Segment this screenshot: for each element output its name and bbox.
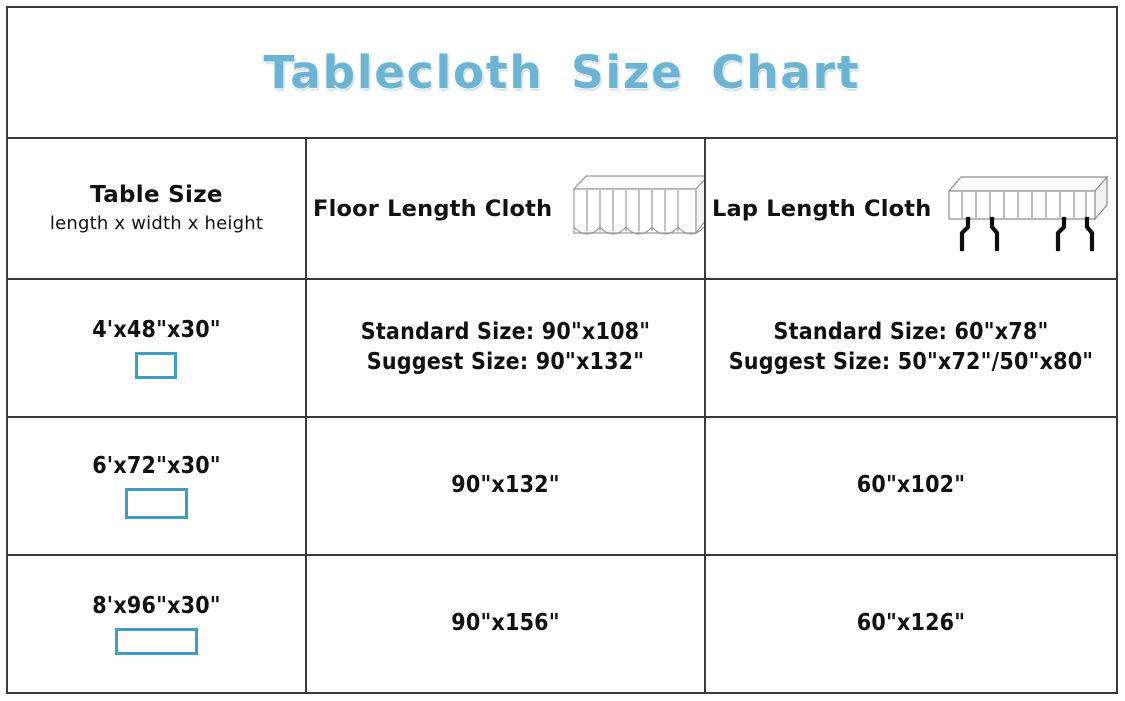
floor-length-tablecloth-icon <box>556 165 706 253</box>
table-footprint-shape <box>115 628 198 655</box>
cell-table-size: 8'x96"x30" <box>8 556 307 692</box>
floor-suggest-size: Suggest Size: 90"x132" <box>361 348 651 378</box>
header-table-size-title: Table Size <box>90 181 223 210</box>
cell-floor-length-size: Standard Size: 90"x108" Suggest Size: 90… <box>307 280 706 416</box>
lap-standard-size: 60"x126" <box>857 609 966 639</box>
table-row: 4'x48"x30" Standard Size: 90"x108" Sugge… <box>8 280 1116 418</box>
table-size-group: 6'x72"x30" <box>92 453 221 519</box>
cell-lap-length-size: 60"x126" <box>706 556 1116 692</box>
page-title: Tablecloth Size Chart <box>264 46 861 99</box>
cell-floor-length-size: 90"x132" <box>307 418 706 554</box>
lap-standard-size: 60"x102" <box>857 471 966 501</box>
table-size-value: 6'x72"x30" <box>92 453 221 479</box>
header-cell-table-size: Table Size length x width x height <box>8 139 307 278</box>
cell-table-size: 6'x72"x30" <box>8 418 307 554</box>
cell-floor-length-size: 90"x156" <box>307 556 706 692</box>
cell-table-size: 4'x48"x30" <box>8 280 307 416</box>
table-size-value: 4'x48"x30" <box>92 317 221 343</box>
cell-lap-length-size: 60"x102" <box>706 418 1116 554</box>
table-size-group: 8'x96"x30" <box>92 593 221 655</box>
chart-frame: Tablecloth Size Chart Table Size length … <box>6 6 1118 694</box>
table-size-value: 8'x96"x30" <box>92 593 221 619</box>
table-row: 6'x72"x30" 90"x132" 60"x102" <box>8 418 1116 556</box>
lap-length-size-value: Standard Size: 60"x78" Suggest Size: 50"… <box>729 318 1094 378</box>
lap-suggest-size: Suggest Size: 50"x72"/50"x80" <box>729 348 1094 378</box>
header-cell-floor-length: Floor Length Cloth <box>307 139 706 278</box>
lap-standard-size: Standard Size: 60"x78" <box>729 318 1094 348</box>
cell-lap-length-size: Standard Size: 60"x78" Suggest Size: 50"… <box>706 280 1116 416</box>
floor-standard-size: 90"x132" <box>451 471 560 501</box>
floor-length-size-value: 90"x132" <box>451 471 560 501</box>
tablecloth-size-chart-page: Tablecloth Size Chart Table Size length … <box>0 0 1125 701</box>
header-floor-length-label: Floor Length Cloth <box>313 196 552 222</box>
table-header-row: Table Size length x width x height Floor… <box>8 139 1116 280</box>
size-table: Table Size length x width x height Floor… <box>8 139 1116 692</box>
lap-length-tablecloth-icon <box>935 161 1116 256</box>
header-table-size-subtitle: length x width x height <box>50 213 263 236</box>
floor-standard-size: 90"x156" <box>451 609 560 639</box>
floor-standard-size: Standard Size: 90"x108" <box>361 318 651 348</box>
table-row: 8'x96"x30" 90"x156" 60"x126" <box>8 556 1116 692</box>
header-cell-lap-length: Lap Length Cloth <box>706 139 1116 278</box>
table-footprint-shape <box>135 352 177 379</box>
floor-length-size-value: Standard Size: 90"x108" Suggest Size: 90… <box>361 318 651 378</box>
header-lap-length-label: Lap Length Cloth <box>712 196 931 222</box>
table-size-group: 4'x48"x30" <box>92 317 221 379</box>
floor-length-size-value: 90"x156" <box>451 609 560 639</box>
table-footprint-shape <box>125 488 188 519</box>
title-row: Tablecloth Size Chart <box>8 8 1116 139</box>
lap-length-size-value: 60"x126" <box>857 609 966 639</box>
lap-length-size-value: 60"x102" <box>857 471 966 501</box>
